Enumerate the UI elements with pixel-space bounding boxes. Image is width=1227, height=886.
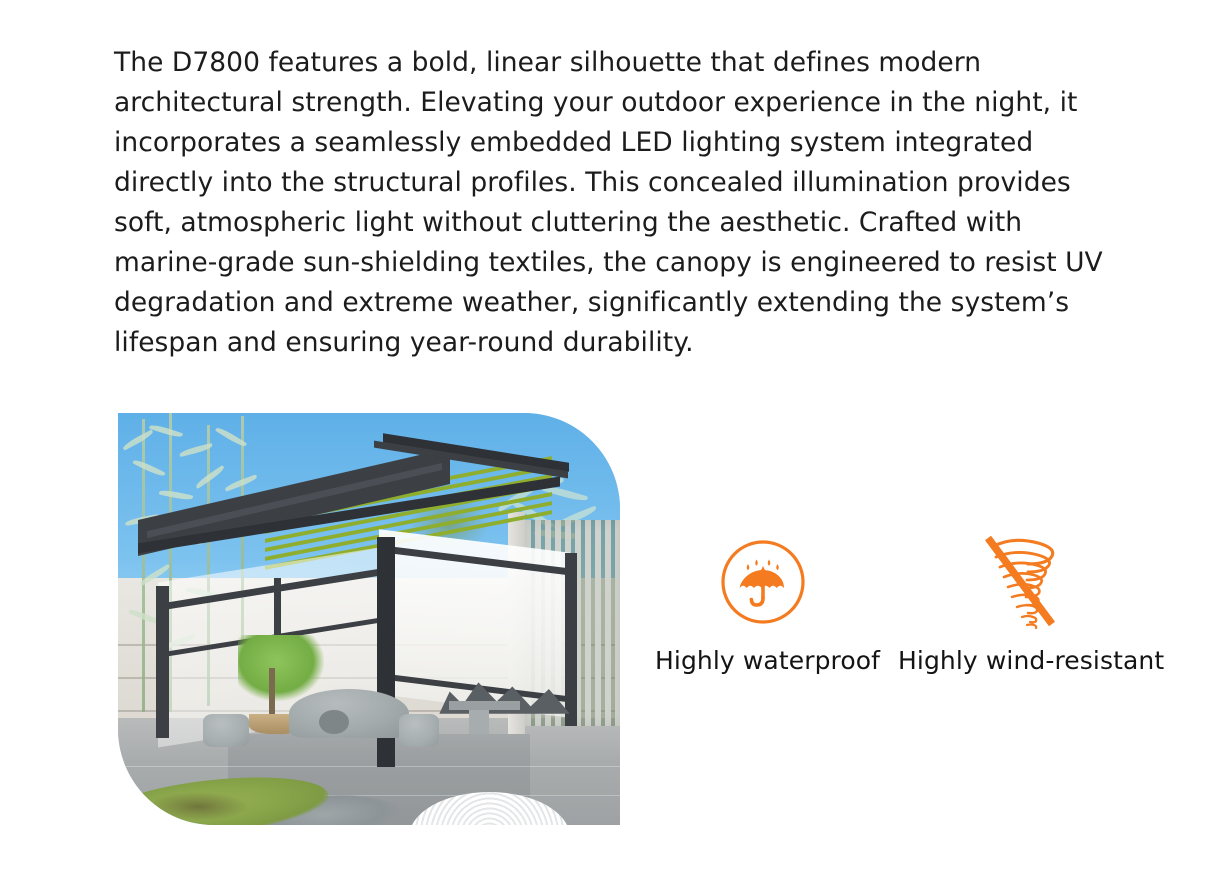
photo-stone-table — [289, 689, 409, 738]
tornado-slashed-icon — [898, 530, 1150, 634]
umbrella-rain-icon — [655, 530, 871, 634]
photo-bonsai-trunk — [269, 668, 275, 717]
feature-label: Highly waterproof — [655, 646, 871, 675]
photo-moss-shadow — [148, 792, 248, 821]
product-photo — [118, 413, 620, 825]
photo-table-cutout — [319, 710, 349, 735]
photo-paving-seam — [118, 766, 620, 767]
photo-bench-leg — [469, 710, 489, 735]
photo-post-left — [156, 586, 169, 738]
photo-post-right — [565, 553, 577, 726]
feature-label: Highly wind-resistant — [898, 646, 1150, 675]
feature-badge-row: Highly waterproof H — [655, 530, 1155, 690]
photo-stone-stool — [399, 714, 439, 747]
feature-highly-wind-resistant: Highly wind-resistant — [898, 530, 1150, 675]
feature-highly-waterproof: Highly waterproof — [655, 530, 871, 675]
photo-stone-stool — [203, 714, 248, 747]
photo-stone-bench — [449, 701, 519, 709]
product-description-paragraph: The D7800 features a bold, linear silhou… — [114, 43, 1104, 363]
photo-bonsai-foliage — [238, 635, 323, 701]
